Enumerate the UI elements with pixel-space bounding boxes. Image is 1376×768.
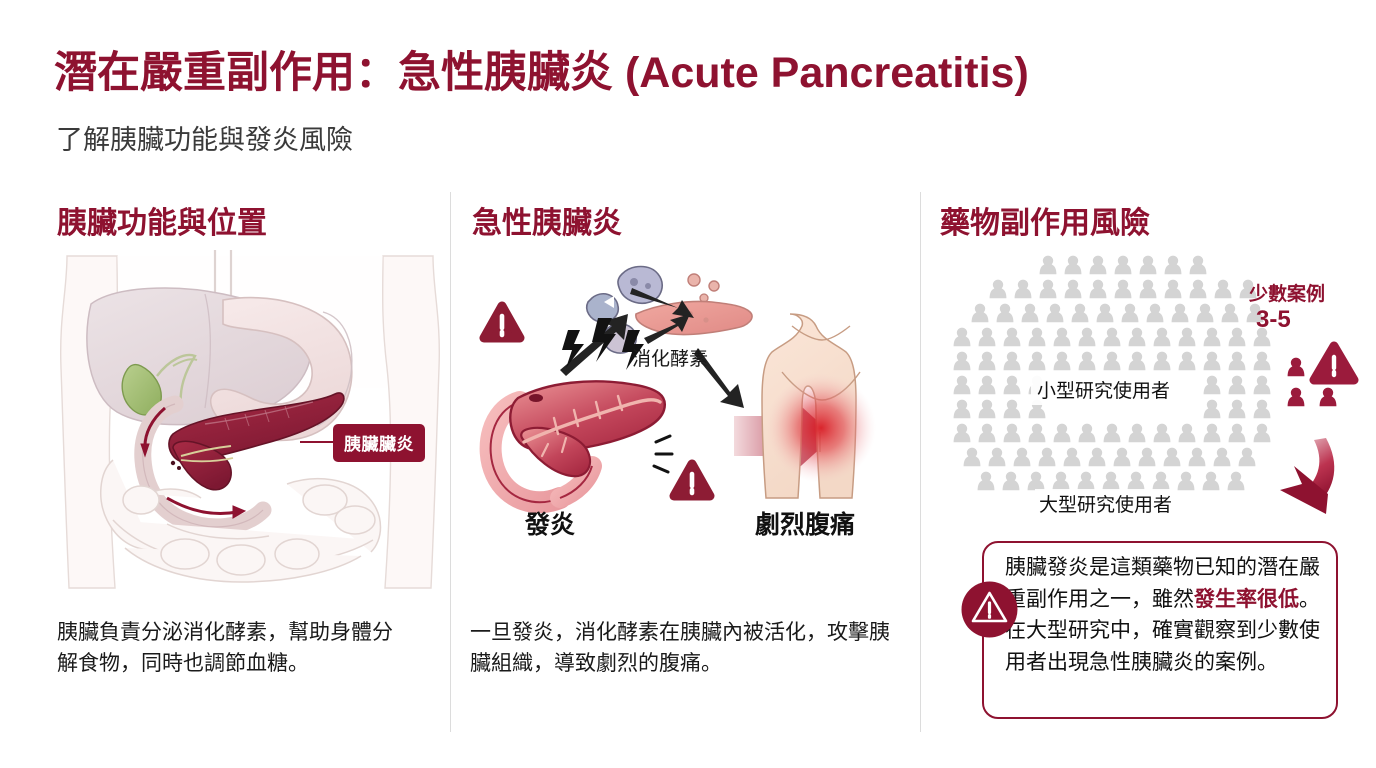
infographic-page: 潛在嚴重副作用：急性胰臟炎 (Acute Pancreatitis) 了解胰臟功… (0, 0, 1376, 768)
curved-arrow-icon (1280, 438, 1334, 514)
panel-divider-2 (920, 192, 921, 732)
panel-caption-pancreas-function: 胰臟負責分泌消化酵素，幫助身體分解食物，同時也調節血糖。 (57, 617, 402, 679)
small-study-label: 小型研究使用者 (1031, 374, 1176, 405)
section-heading-pancreas-function: 胰臟功能與位置 (57, 198, 267, 242)
page-title: 潛在嚴重副作用：急性胰臟炎 (Acute Pancreatitis) (54, 38, 1029, 100)
risk-callout-text: 胰臟發炎是這類藥物已知的潛在嚴重副作用之一，雖然發生率很低。在大型研究中，確實觀… (1005, 552, 1327, 678)
panel-divider-1 (450, 192, 451, 732)
few-cases-label: 少數案例 (1249, 279, 1325, 306)
stage-label-inflammation: 發炎 (525, 505, 575, 541)
people-grid-base (954, 256, 1271, 491)
few-cases-value: 3-5 (1256, 306, 1291, 334)
section-heading-drug-risk: 藥物副作用風險 (940, 198, 1150, 242)
large-study-label: 大型研究使用者 (1035, 489, 1176, 518)
section-heading-acute-pancreatitis: 急性胰臟炎 (472, 198, 622, 242)
enzyme-label: 消化酵素 (632, 344, 708, 371)
badge-leader-line (300, 441, 336, 443)
callout-highlight: 發生率很低 (1194, 588, 1299, 611)
abdominal-anatomy-illustration (55, 248, 445, 598)
panel-caption-acute-pancreatitis: 一旦發炎，消化酵素在胰臟內被活化，攻擊胰臟組織，導致劇烈的腹痛。 (470, 617, 890, 679)
abdominal-pain-glow-icon (766, 373, 876, 483)
warning-triangle-icon-risk (1314, 346, 1354, 380)
warning-circle-icon (961, 581, 1018, 638)
stage-label-severe-pain: 劇烈腹痛 (755, 505, 855, 541)
pancreas-label-badge: 胰臟臟炎 (333, 424, 425, 462)
warning-triangle-icon (484, 306, 520, 338)
pain-lines-icon (654, 436, 672, 472)
warning-triangle-icon-2 (674, 464, 710, 496)
torso-icon (762, 314, 876, 498)
page-subtitle: 了解胰臟功能與發炎風險 (56, 118, 353, 157)
